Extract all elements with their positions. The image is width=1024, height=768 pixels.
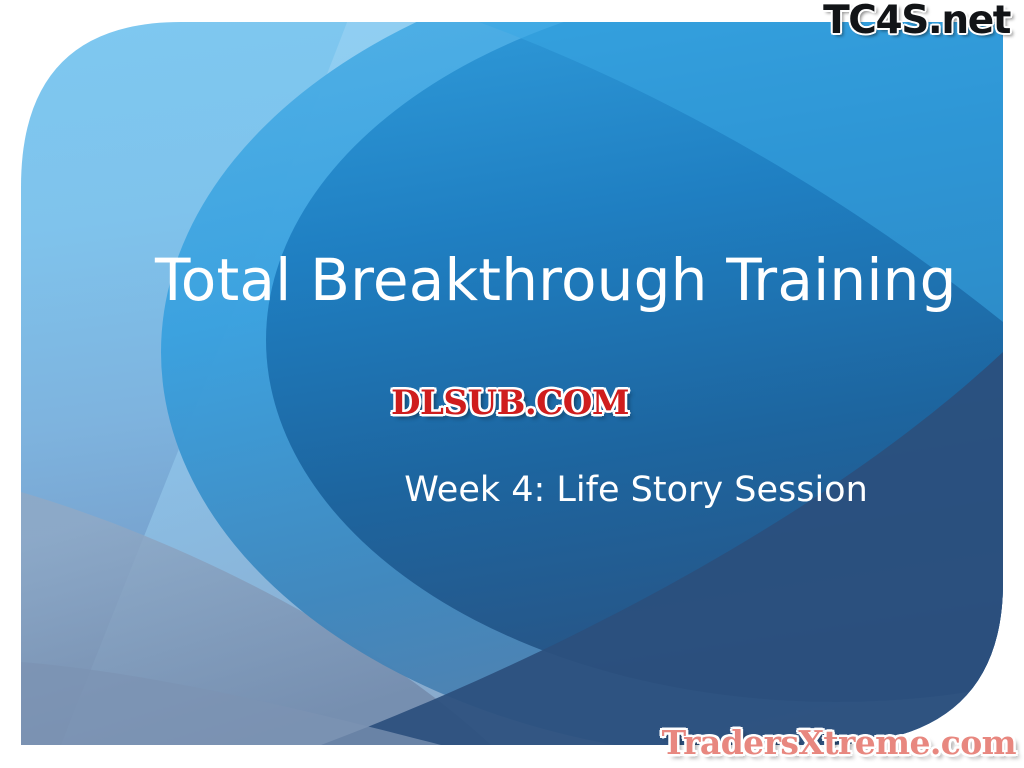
watermark-dlsub: DLSUB.COM	[391, 383, 629, 423]
page-subtitle: Week 4: Life Story Session	[321, 471, 951, 510]
watermark-tradersxtreme: TradersXtreme.com	[662, 723, 1016, 762]
subtitle-block: Week 4: Life Story Session	[321, 471, 951, 510]
slide-surface: Total Breakthrough Training Week 4: Life…	[21, 22, 1003, 745]
slide-root: Total Breakthrough Training Week 4: Life…	[0, 0, 1024, 768]
watermark-tc4s: TC4S.net	[823, 0, 1010, 43]
